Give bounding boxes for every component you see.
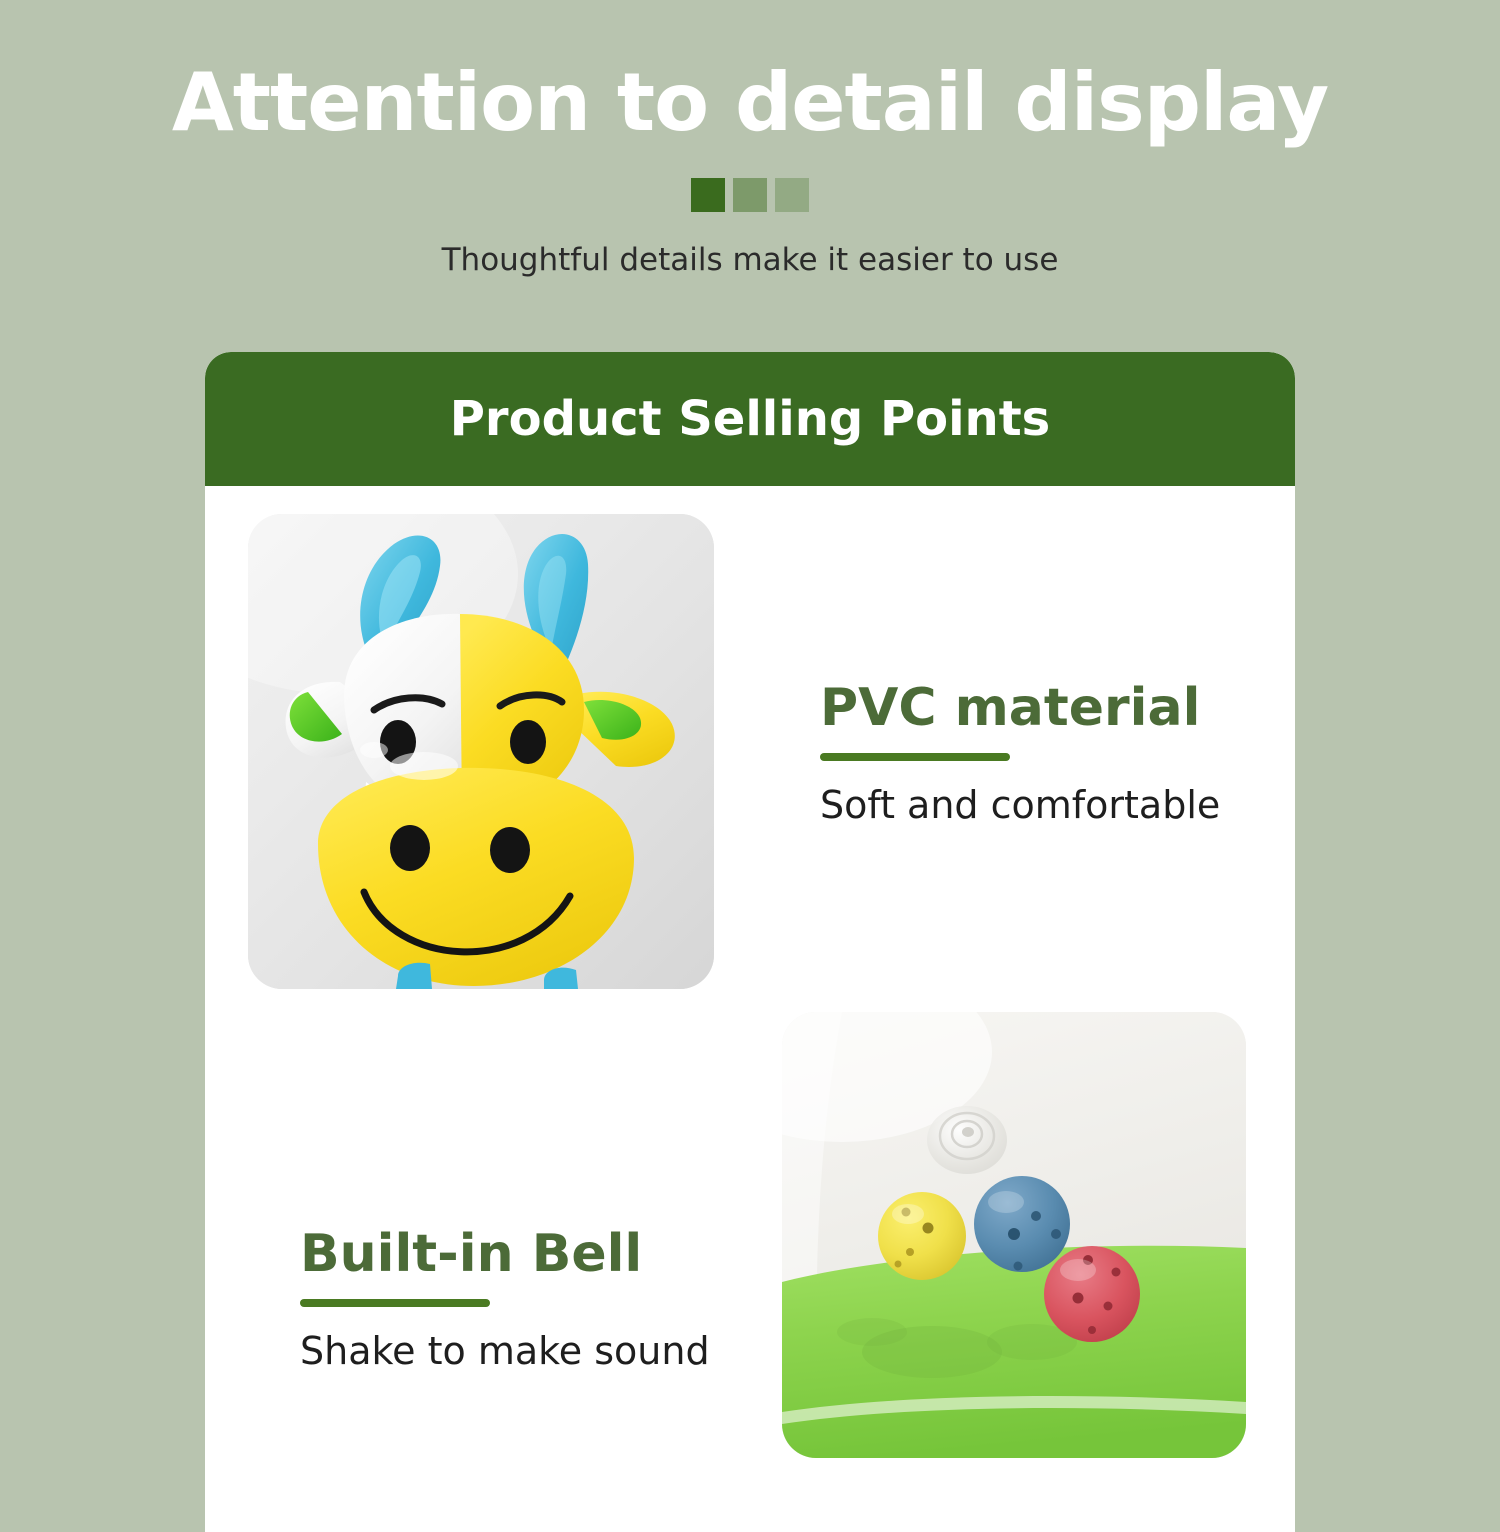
cow-nostril-right <box>490 827 530 873</box>
feature-rule-pvc-material <box>820 753 1010 761</box>
feature-block-built-in-bell: Built-in Bell Shake to make sound <box>300 1226 710 1373</box>
valve-nipple <box>927 1106 1007 1174</box>
feature-rule-built-in-bell <box>300 1299 490 1307</box>
rattle-ball-yellow <box>878 1192 966 1280</box>
card-body: PVC material Soft and comfortable Built-… <box>205 486 1295 1532</box>
feature-block-pvc-material: PVC material Soft and comfortable <box>820 680 1220 827</box>
accent-square-dark <box>691 178 725 212</box>
accent-squares <box>0 178 1500 212</box>
page-title: Attention to detail display <box>0 0 1500 146</box>
rattle-balls-photo <box>782 1012 1246 1458</box>
rattle-ball-red <box>1044 1246 1140 1342</box>
feature-subtitle-built-in-bell: Shake to make sound <box>300 1307 710 1373</box>
inflatable-cow-toy-photo <box>248 514 714 989</box>
cow-illustration <box>248 514 714 989</box>
selling-points-card: Product Selling Points <box>205 352 1295 1532</box>
card-header-bar: Product Selling Points <box>205 352 1295 486</box>
feature-subtitle-pvc-material: Soft and comfortable <box>820 761 1220 827</box>
cow-eye-right <box>510 720 546 764</box>
rattle-balls-illustration <box>782 1012 1246 1458</box>
card-header-title: Product Selling Points <box>450 391 1051 447</box>
cow-nostril-left <box>390 825 430 871</box>
feature-title-built-in-bell: Built-in Bell <box>300 1226 710 1283</box>
accent-square-medium <box>733 178 767 212</box>
feature-title-pvc-material: PVC material <box>820 680 1220 737</box>
page-header: Attention to detail display Thoughtful d… <box>0 0 1500 278</box>
rattle-ball-blue <box>974 1176 1070 1272</box>
page-subtitle: Thoughtful details make it easier to use <box>0 212 1500 278</box>
accent-square-light <box>775 178 809 212</box>
